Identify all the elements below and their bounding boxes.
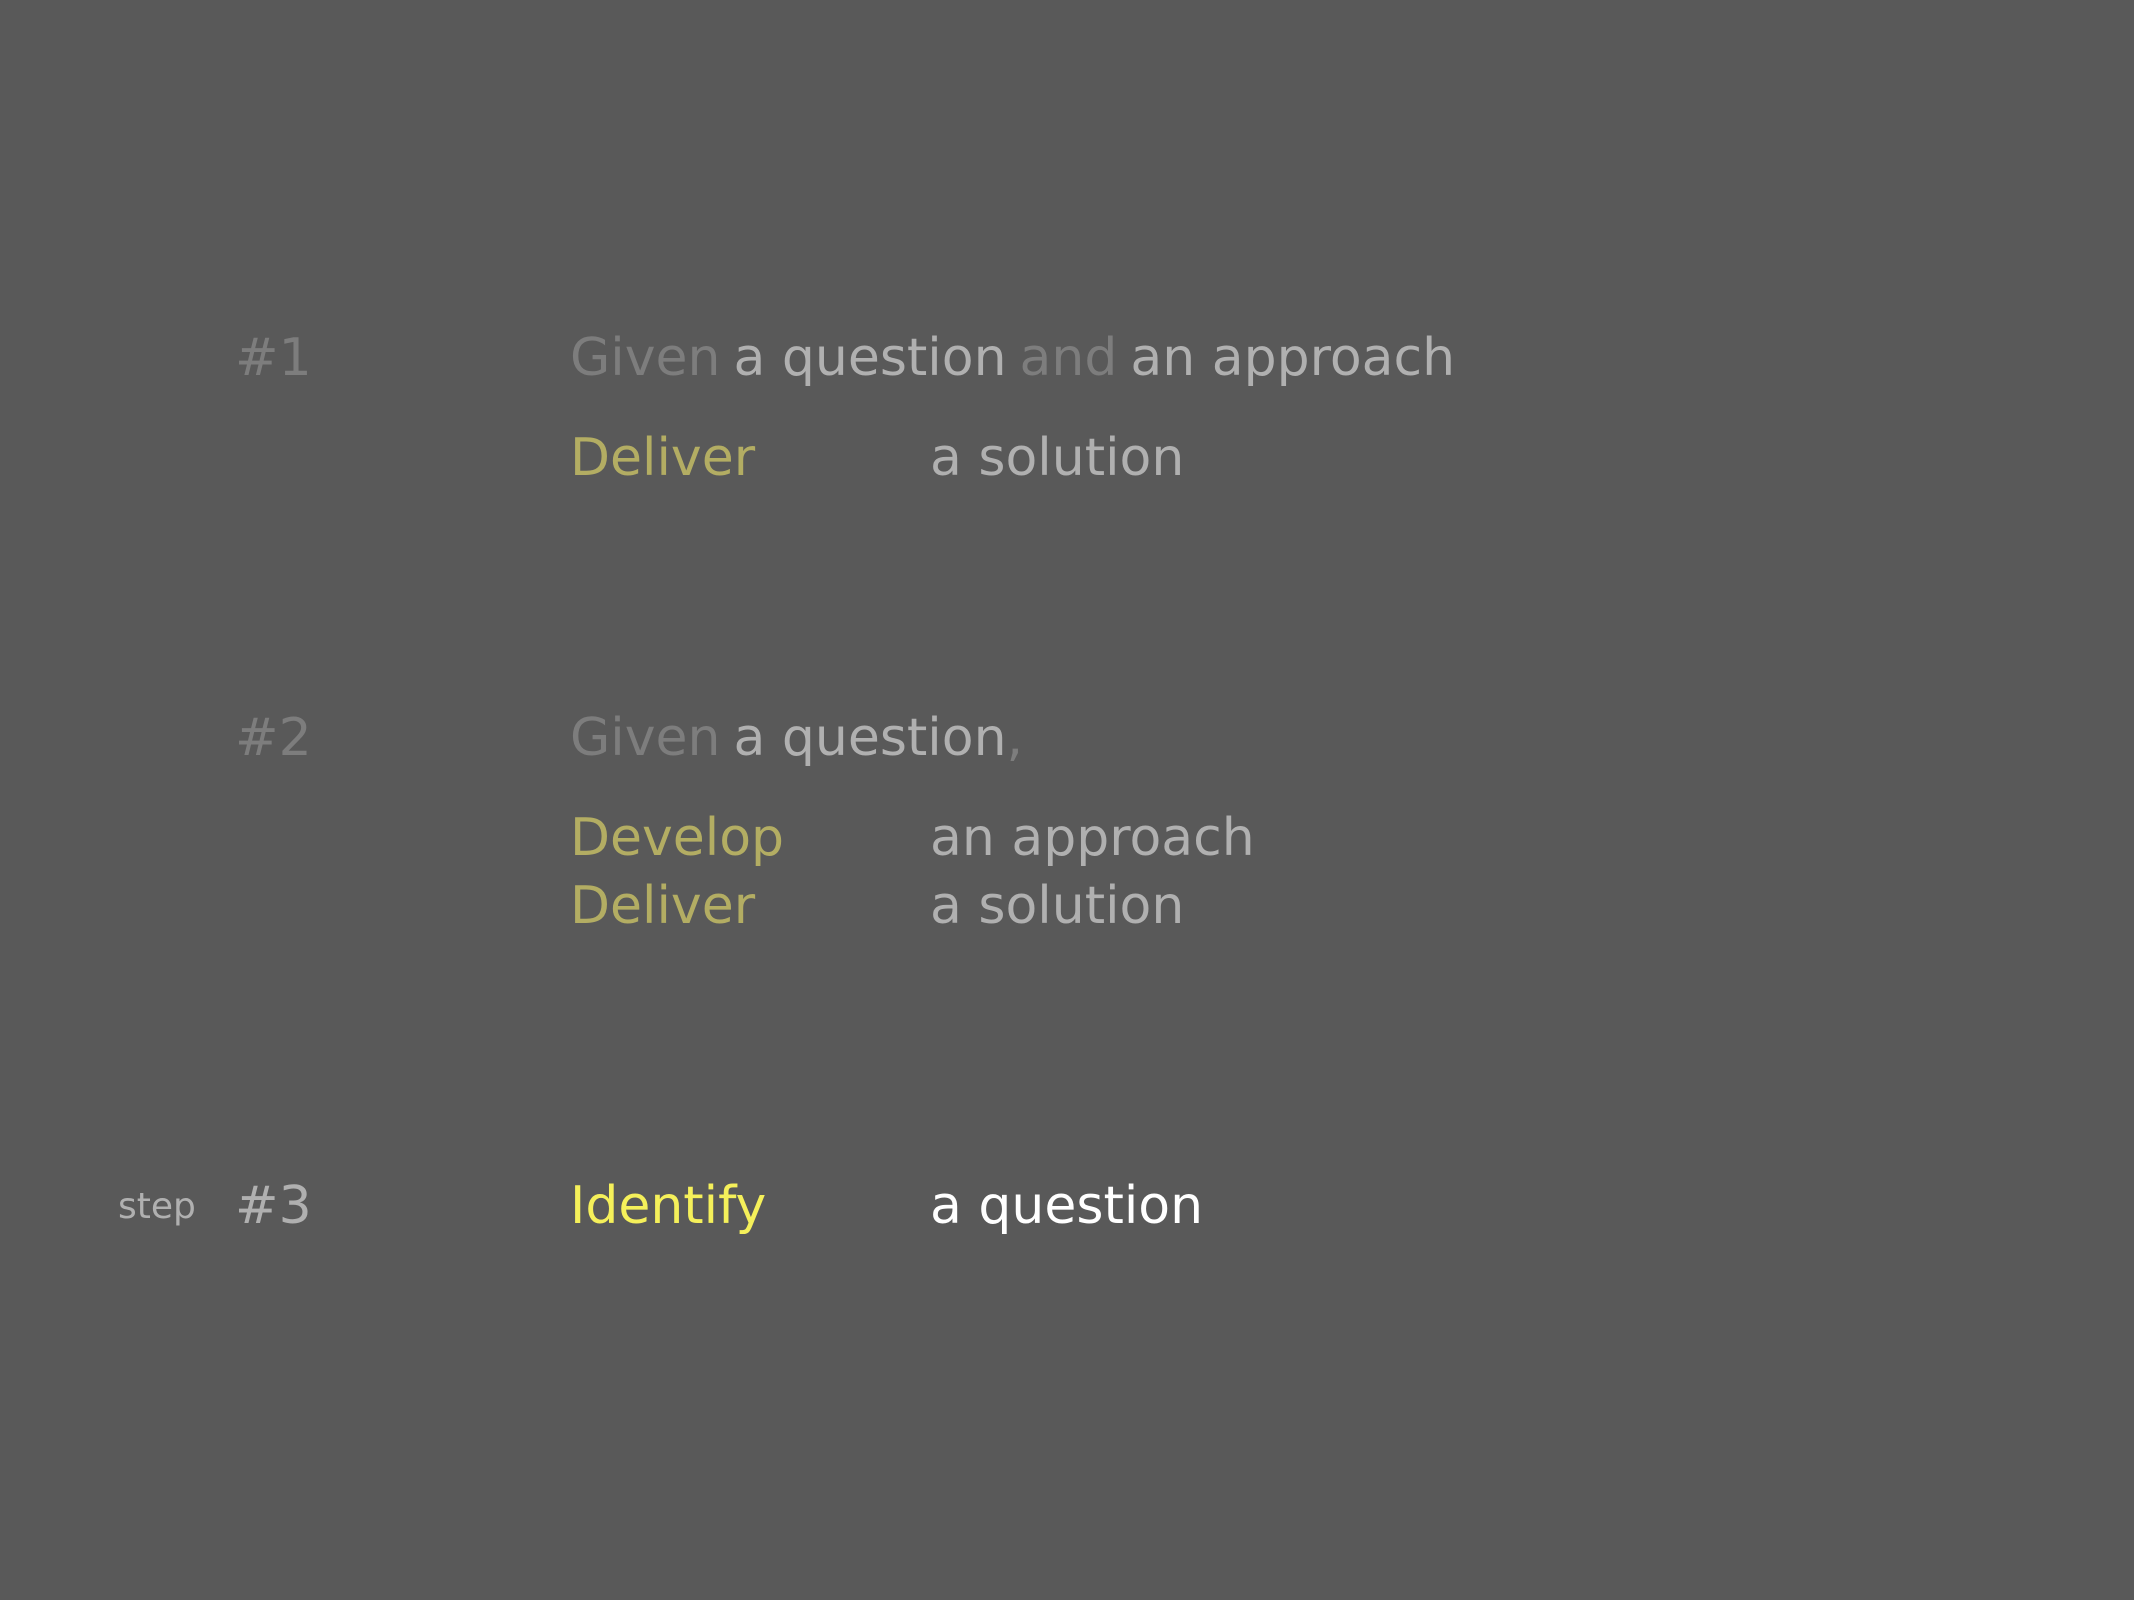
slide-canvas: #1 Givena questionandan approach Deliver… [0, 0, 2134, 1600]
action-verb-identify-3: Identify [570, 1180, 766, 1232]
step-index-2: #2 [235, 712, 312, 764]
action-object-question-3: a question [930, 1180, 1203, 1232]
clause-given-2: Given [570, 708, 720, 768]
clause-object-question-1: a question [733, 328, 1006, 388]
action-verb-develop-2: Develop [570, 812, 784, 864]
clause-and-1: and [1020, 328, 1118, 388]
step-prefix-label-3: step [118, 1189, 196, 1225]
step-clause-2: Givena question, [570, 712, 1023, 764]
clause-object-approach-1: an approach [1130, 328, 1455, 388]
action-object-solution-2: a solution [930, 880, 1184, 932]
clause-comma-2: , [1007, 708, 1024, 768]
clause-given-1: Given [570, 328, 720, 388]
action-object-solution-1: a solution [930, 432, 1184, 484]
step-index-3: #3 [235, 1180, 312, 1232]
step-clause-1: Givena questionandan approach [570, 332, 1455, 384]
action-verb-deliver-2: Deliver [570, 880, 755, 932]
clause-object-question-2: a question [733, 708, 1006, 768]
action-verb-deliver-1: Deliver [570, 432, 755, 484]
step-index-1: #1 [235, 332, 312, 384]
action-object-approach-2: an approach [930, 812, 1255, 864]
